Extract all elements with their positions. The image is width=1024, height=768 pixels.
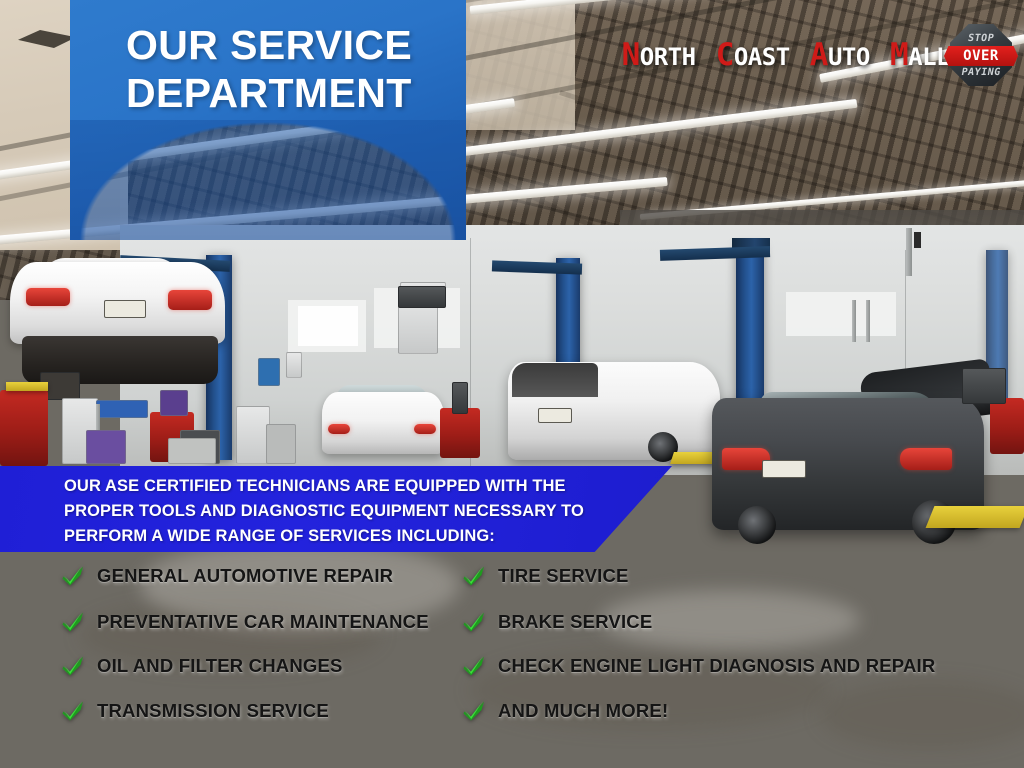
checkmark-icon (60, 698, 86, 724)
list-item: OIL AND FILTER CHANGES (60, 653, 343, 679)
list-item: AND MUCH MORE! (461, 698, 668, 724)
service-label: AND MUCH MORE! (498, 700, 668, 722)
list-item: TIRE SERVICE (461, 563, 629, 589)
list-item: CHECK ENGINE LIGHT DIAGNOSIS AND REPAIR (461, 653, 935, 679)
service-label: TIRE SERVICE (498, 565, 629, 587)
checkmark-icon (60, 653, 86, 679)
checkmark-icon (461, 698, 487, 724)
list-item: BRAKE SERVICE (461, 609, 652, 635)
list-item: PREVENTATIVE CAR MAINTENANCE (60, 609, 429, 635)
checkmark-icon (60, 563, 86, 589)
service-label: BRAKE SERVICE (498, 611, 652, 633)
list-item: TRANSMISSION SERVICE (60, 698, 329, 724)
services-list: GENERAL AUTOMOTIVE REPAIR PREVENTATIVE C… (0, 0, 1024, 768)
service-label: CHECK ENGINE LIGHT DIAGNOSIS AND REPAIR (498, 655, 935, 677)
service-department-banner-image: OUR SERVICE DEPARTMENT NORTH COAST AUTO … (0, 0, 1024, 768)
list-item: GENERAL AUTOMOTIVE REPAIR (60, 563, 393, 589)
checkmark-icon (60, 609, 86, 635)
service-label: PREVENTATIVE CAR MAINTENANCE (97, 611, 429, 633)
checkmark-icon (461, 653, 487, 679)
service-label: TRANSMISSION SERVICE (97, 700, 329, 722)
checkmark-icon (461, 609, 487, 635)
service-label: OIL AND FILTER CHANGES (97, 655, 343, 677)
service-label: GENERAL AUTOMOTIVE REPAIR (97, 565, 393, 587)
checkmark-icon (461, 563, 487, 589)
